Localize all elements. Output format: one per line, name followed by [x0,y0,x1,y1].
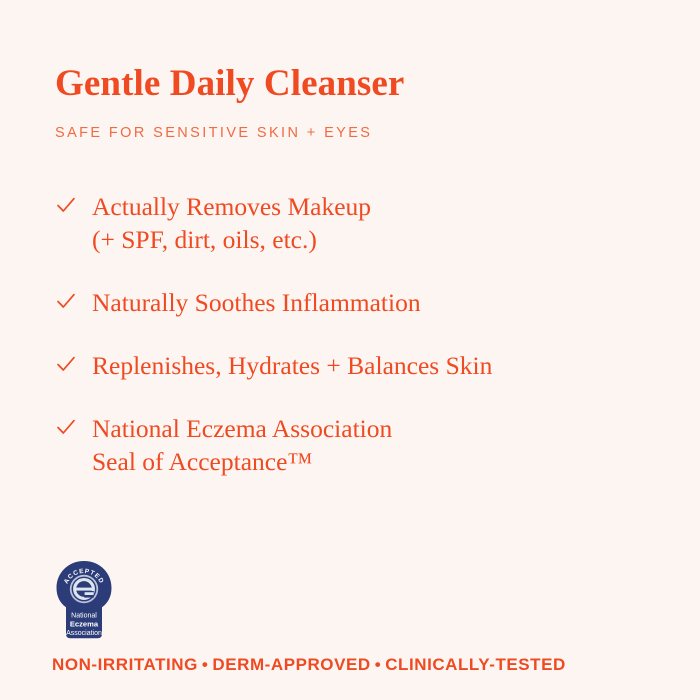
product-benefits-card: Gentle Daily Cleanser SAFE FOR SENSITIVE… [0,0,700,700]
check-icon [55,353,77,375]
benefits-list: Actually Removes Makeup (+ SPF, dirt, oi… [55,190,675,478]
claim-separator: • [371,655,386,674]
seal-line-1: National [71,613,97,620]
heading-block: Gentle Daily Cleanser SAFE FOR SENSITIVE… [55,62,655,143]
claim-clinically-tested: CLINICALLY-TESTED [385,655,566,674]
list-item: Replenishes, Hydrates + Balances Skin [55,349,675,382]
benefit-line-1: Replenishes, Hydrates + Balances Skin [92,349,675,382]
benefit-line-1: National Eczema Association [92,412,675,445]
footer-claims: NON-IRRITATING•DERM-APPROVED•CLINICALLY-… [52,654,672,676]
seal-line-2: Eczema [70,620,99,629]
benefit-line-1: Naturally Soothes Inflammation [92,286,675,319]
claim-separator: • [198,655,213,674]
page-subtitle: SAFE FOR SENSITIVE SKIN + EYES [55,123,655,143]
list-item: National Eczema Association Seal of Acce… [55,412,675,478]
benefit-line-2: Seal of Acceptance™ [92,445,675,478]
benefit-line-2: (+ SPF, dirt, oils, etc.) [92,223,675,256]
nea-seal-badge-icon: ACCEPTED National Eczema Association [55,560,113,640]
check-icon [55,416,77,438]
claim-derm-approved: DERM-APPROVED [212,655,370,674]
seal-line-3: Association [66,630,102,637]
benefit-line-1: Actually Removes Makeup [92,190,675,223]
check-icon [55,194,77,216]
check-icon [55,290,77,312]
list-item: Naturally Soothes Inflammation [55,286,675,319]
claim-non-irritating: NON-IRRITATING [52,655,198,674]
list-item: Actually Removes Makeup (+ SPF, dirt, oi… [55,190,675,256]
page-title: Gentle Daily Cleanser [55,62,655,106]
